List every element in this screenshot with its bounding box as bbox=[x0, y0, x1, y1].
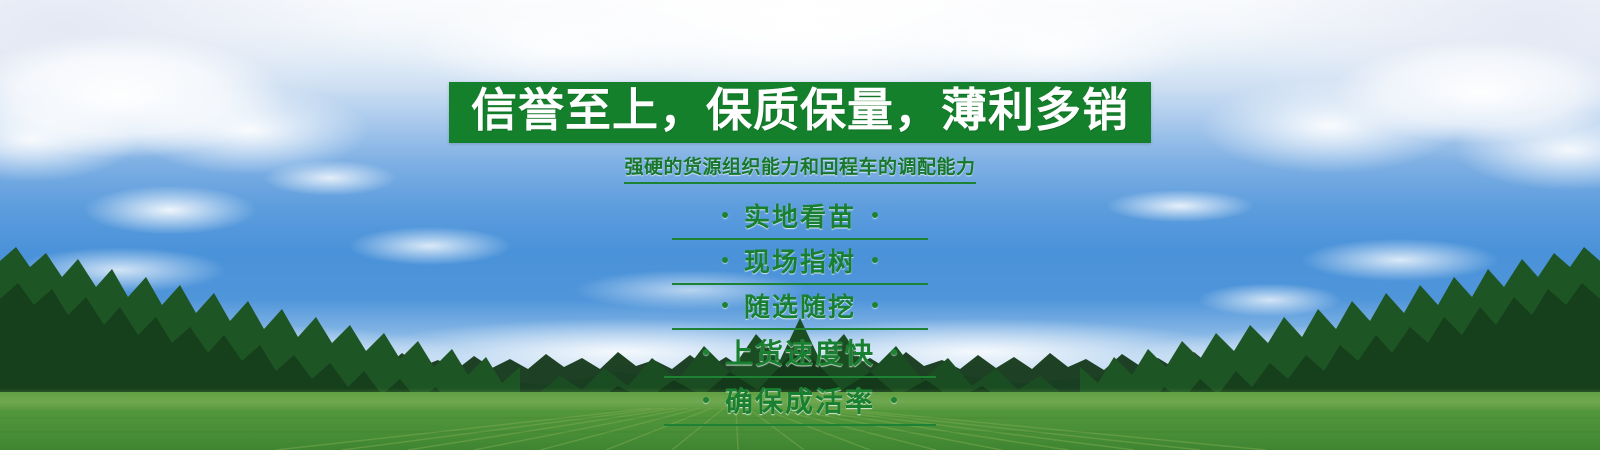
headline-bar: 信誉至上，保质保量，薄利多销 bbox=[449, 82, 1151, 143]
bullet-dot-icon bbox=[722, 212, 728, 218]
feature-item: 确保成活率 bbox=[664, 378, 936, 426]
bullet-dot-icon bbox=[891, 397, 897, 403]
feature-label: 现场指树 bbox=[744, 242, 856, 279]
bullet-dot-icon bbox=[703, 397, 709, 403]
feature-label: 上货速度快 bbox=[725, 332, 875, 372]
feature-item: 随选随挖 bbox=[672, 285, 928, 330]
feature-label: 随选随挖 bbox=[744, 287, 856, 324]
bullet-dot-icon bbox=[703, 349, 709, 355]
bullet-dot-icon bbox=[872, 302, 878, 308]
bullet-dot-icon bbox=[722, 257, 728, 263]
headline-text: 信誉至上，保质保量，薄利多销 bbox=[471, 87, 1129, 134]
banner-content: 信誉至上，保质保量，薄利多销 强硬的货源组织能力和回程车的调配能力 实地看苗 现… bbox=[0, 0, 1600, 450]
bullet-dot-icon bbox=[872, 212, 878, 218]
feature-label: 实地看苗 bbox=[744, 197, 856, 234]
feature-label: 确保成活率 bbox=[725, 380, 875, 420]
bullet-dot-icon bbox=[891, 349, 897, 355]
feature-list: 实地看苗 现场指树 随选随挖 上货速度快 确保成活率 bbox=[664, 195, 936, 426]
feature-item: 实地看苗 bbox=[672, 195, 928, 240]
promo-banner: 信誉至上，保质保量，薄利多销 强硬的货源组织能力和回程车的调配能力 实地看苗 现… bbox=[0, 0, 1600, 450]
feature-item: 上货速度快 bbox=[664, 330, 936, 378]
bullet-dot-icon bbox=[722, 302, 728, 308]
feature-item: 现场指树 bbox=[672, 240, 928, 285]
subtitle-text: 强硬的货源组织能力和回程车的调配能力 bbox=[624, 152, 975, 184]
bullet-dot-icon bbox=[872, 257, 878, 263]
